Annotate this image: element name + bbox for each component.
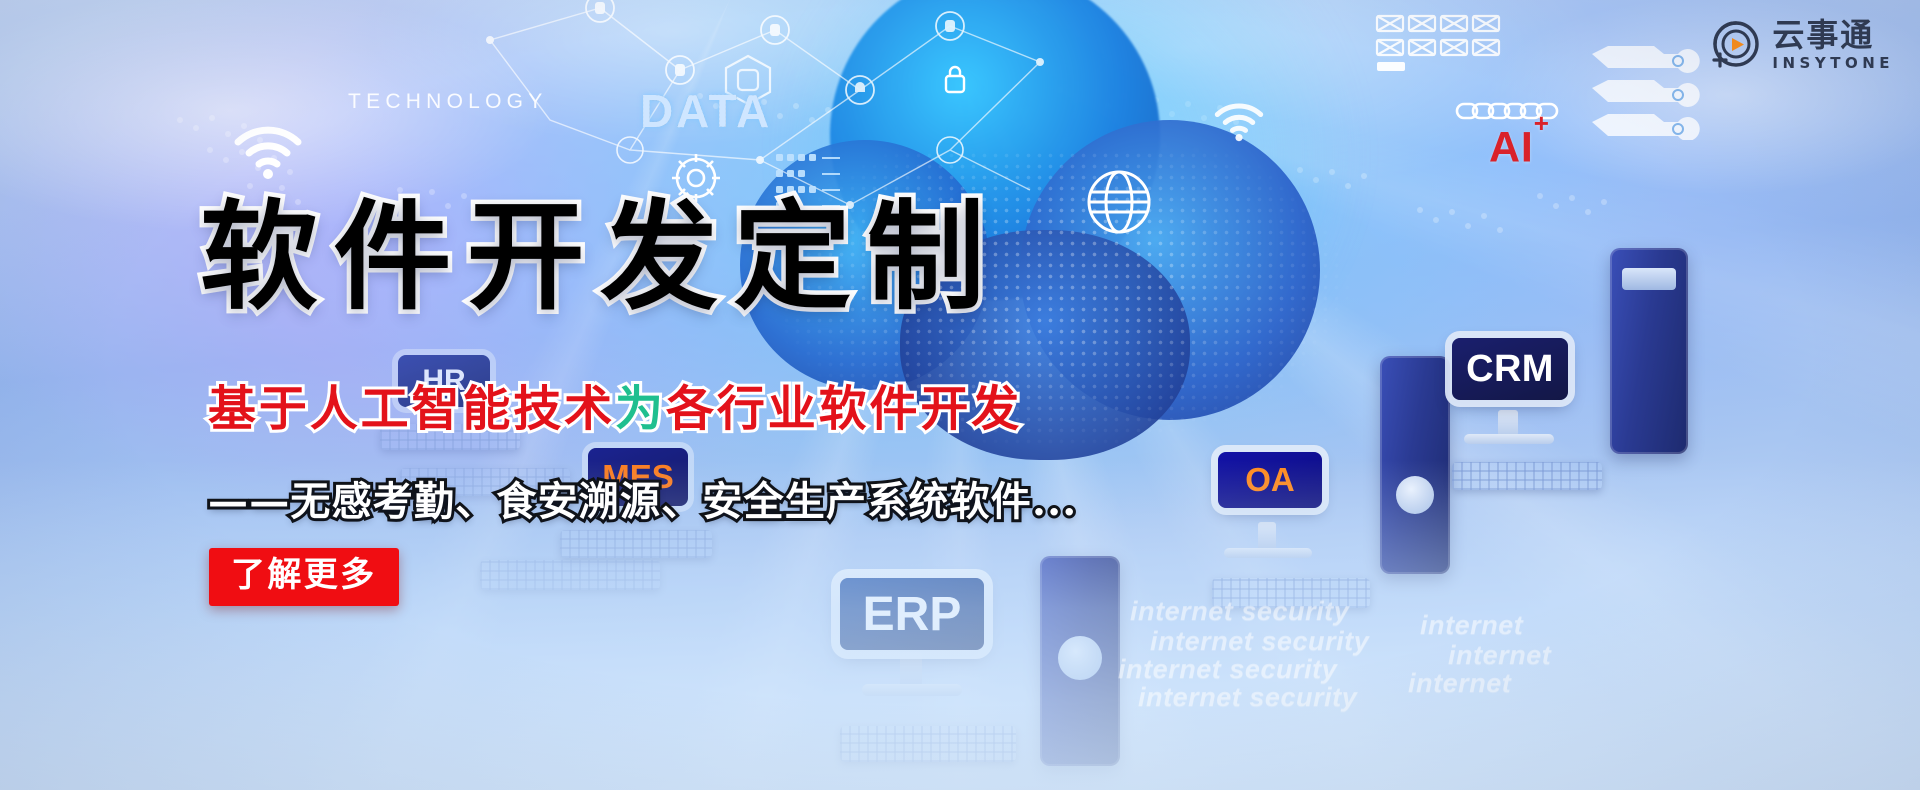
hero-banner: ERP OA CRM HR MES internet security inte… xyxy=(0,0,1920,790)
hero-copy: 软件开发定制 基于人工智能技术为各行业软件开发 ——无感考勤、食安溯源、安全生产… xyxy=(0,0,1920,790)
learn-more-button[interactable]: 了解更多 xyxy=(209,548,399,606)
page-title: 软件开发定制 xyxy=(200,198,1000,316)
hero-tagline: ——无感考勤、食安溯源、安全生产系统软件... xyxy=(208,482,1077,522)
logo-text-block: 云事通 INSYTONE xyxy=(1772,19,1894,71)
brand-logo[interactable]: 云事通 INSYTONE xyxy=(1708,18,1894,72)
subheadline-part-2: 为 xyxy=(615,381,666,437)
logo-circular-play-icon xyxy=(1708,18,1762,72)
logo-cn-name: 云事通 xyxy=(1772,19,1894,51)
logo-en-name: INSYTONE xyxy=(1772,56,1894,71)
hero-subheadline: 基于人工智能技术为各行业软件开发 xyxy=(208,385,1022,433)
subheadline-part-1: 基于人工智能技术 xyxy=(208,381,615,437)
subheadline-part-3: 各行业软件开发 xyxy=(666,381,1022,437)
